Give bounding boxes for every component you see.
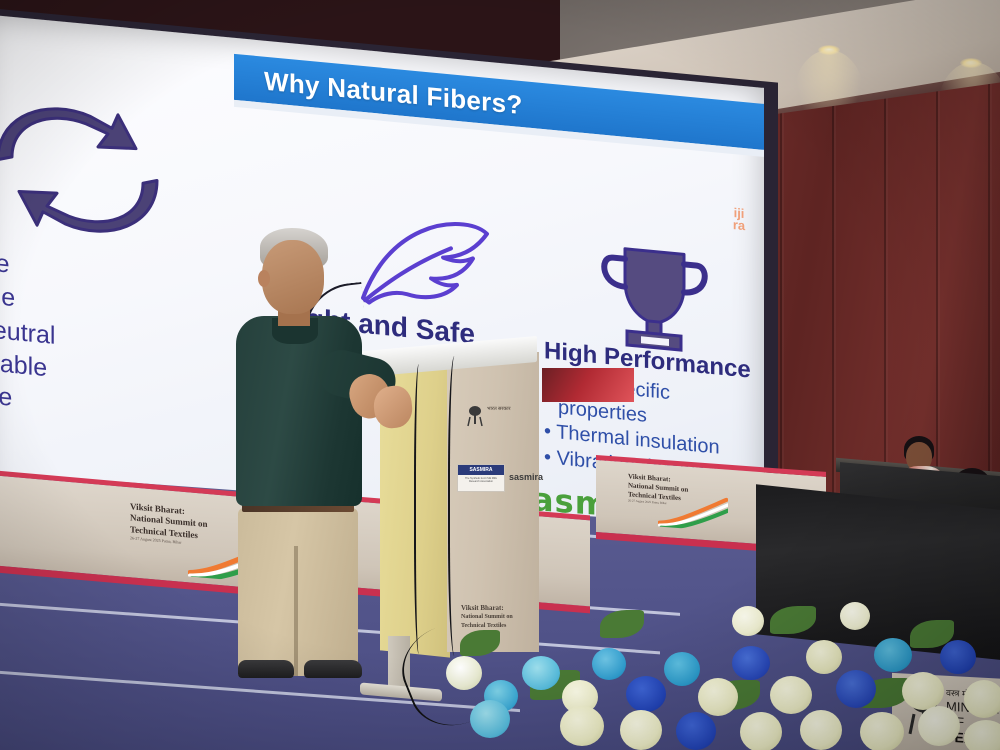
flower — [740, 712, 782, 750]
flower — [446, 656, 482, 690]
flower — [874, 638, 912, 672]
speaker — [232, 228, 412, 676]
recycle-arrows-icon — [0, 97, 165, 244]
leaf-icon — [600, 610, 644, 638]
flower — [770, 676, 812, 714]
speaker-trousers — [238, 508, 358, 676]
speaker-shoe — [304, 660, 362, 678]
speaker-ear — [258, 270, 270, 287]
flower — [560, 706, 604, 746]
flower — [522, 656, 560, 690]
flower — [964, 720, 1000, 750]
podium-org-sub: The Synthetic & Art Silk Mills Research … — [458, 475, 504, 483]
flower — [902, 672, 944, 710]
flower — [698, 678, 738, 716]
flower — [840, 602, 870, 630]
flower-arrangement — [440, 560, 1000, 750]
leaf-icon — [770, 606, 816, 634]
trophy-icon — [597, 238, 712, 357]
podium-sasmira-badge: SASMIRA The Synthetic & Art Silk Mills R… — [457, 464, 505, 492]
flower — [918, 706, 960, 746]
flower — [806, 640, 842, 674]
speaker-shoe — [238, 660, 294, 678]
speaker-hand — [372, 384, 414, 430]
speaker-leg-seam — [294, 546, 298, 676]
flower — [676, 712, 716, 750]
podium-org-label: SASMIRA — [458, 465, 504, 475]
slide-line: tainable — [0, 240, 55, 286]
flower — [592, 648, 626, 680]
flower — [732, 606, 764, 636]
flower — [626, 676, 666, 712]
tricolor-wave-icon — [658, 493, 728, 532]
flower — [836, 670, 876, 708]
slide-column-sustainable: tainable newable rbon neutral degradable… — [0, 240, 55, 419]
flower — [940, 640, 976, 674]
podium-accent — [542, 368, 634, 402]
cable — [414, 364, 426, 654]
flower — [732, 646, 770, 680]
flower — [470, 700, 510, 738]
screenshot-root: Why Natural Fibers? ijira — [0, 0, 1000, 750]
speaker-sweater — [236, 316, 362, 506]
flower — [860, 712, 904, 750]
podium-sasmira-text: sasmira — [509, 472, 543, 482]
flower — [620, 710, 662, 750]
flower — [800, 710, 842, 750]
national-emblem-icon — [467, 404, 483, 428]
ijira-logo: ijira — [722, 202, 756, 249]
flower — [664, 652, 700, 686]
speaker-head — [262, 240, 324, 314]
leaf-icon — [460, 630, 500, 656]
flower — [964, 680, 1000, 718]
podium-hindi-label: भारत सरकार — [487, 406, 511, 412]
